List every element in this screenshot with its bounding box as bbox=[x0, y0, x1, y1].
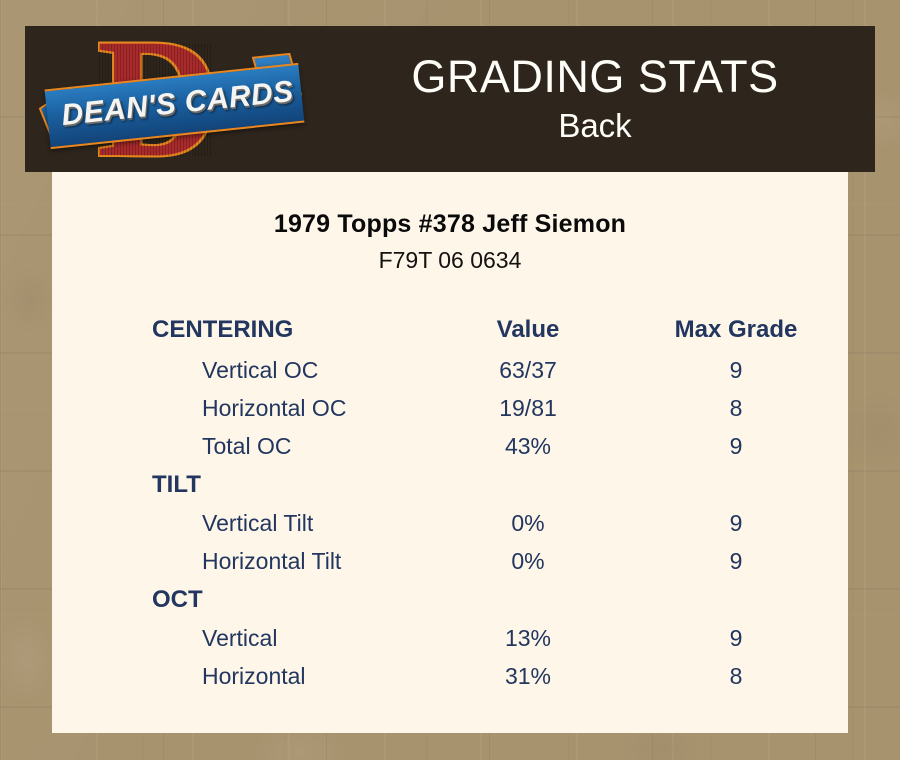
stat-value: 0% bbox=[432, 504, 624, 542]
stat-value: 13% bbox=[432, 619, 624, 657]
stats-section-header: TILT bbox=[52, 465, 848, 504]
table-row: Vertical Tilt0%9 bbox=[52, 504, 848, 542]
section-name: OCT bbox=[52, 580, 432, 619]
card-serial-number: F79T 06 0634 bbox=[52, 247, 848, 274]
stat-max-grade: 9 bbox=[624, 619, 848, 657]
column-header-max-grade: Max Grade bbox=[624, 316, 848, 351]
stats-table-body: Vertical OC63/379Horizontal OC19/818Tota… bbox=[52, 351, 848, 695]
stat-value: 43% bbox=[432, 427, 624, 465]
stat-max-grade: 9 bbox=[624, 427, 848, 465]
stat-value: 19/81 bbox=[432, 389, 624, 427]
stat-max-grade: 9 bbox=[624, 504, 848, 542]
page-title: GRADING STATS bbox=[411, 51, 778, 103]
page-subtitle: Back bbox=[558, 105, 631, 147]
stat-label: Horizontal bbox=[52, 657, 432, 695]
stat-value: 0% bbox=[432, 542, 624, 580]
stats-section-header: OCT bbox=[52, 580, 848, 619]
stats-table-head: CENTERING Value Max Grade bbox=[52, 316, 848, 351]
stat-label: Vertical Tilt bbox=[52, 504, 432, 542]
stat-label: Total OC bbox=[52, 427, 432, 465]
content-panel: 1979 Topps #378 Jeff Siemon F79T 06 0634… bbox=[52, 172, 848, 733]
stat-label: Vertical OC bbox=[52, 351, 432, 389]
stat-label: Horizontal OC bbox=[52, 389, 432, 427]
table-row: Horizontal31%8 bbox=[52, 657, 848, 695]
card-title: 1979 Topps #378 Jeff Siemon bbox=[52, 210, 848, 239]
header-title-group: GRADING STATS Back bbox=[315, 26, 875, 172]
stat-label: Horizontal Tilt bbox=[52, 542, 432, 580]
stat-max-grade: 9 bbox=[624, 542, 848, 580]
table-row: Vertical13%9 bbox=[52, 619, 848, 657]
stat-max-grade: 8 bbox=[624, 389, 848, 427]
table-row: Total OC43%9 bbox=[52, 427, 848, 465]
header-band: D DEAN'S CARDS GRADING STATS Back bbox=[25, 26, 875, 172]
stat-max-grade: 9 bbox=[624, 351, 848, 389]
section-name: TILT bbox=[52, 465, 432, 504]
column-header-value: Value bbox=[432, 316, 624, 351]
stat-value: 31% bbox=[432, 657, 624, 695]
table-row: Horizontal OC19/818 bbox=[52, 389, 848, 427]
stat-max-grade: 8 bbox=[624, 657, 848, 695]
stat-value: 63/37 bbox=[432, 351, 624, 389]
grading-stats-table: CENTERING Value Max Grade Vertical OC63/… bbox=[52, 316, 848, 695]
table-row: Horizontal Tilt0%9 bbox=[52, 542, 848, 580]
table-header-row: CENTERING Value Max Grade bbox=[52, 316, 848, 351]
deans-cards-logo[interactable]: D DEAN'S CARDS bbox=[47, 30, 302, 170]
stat-label: Vertical bbox=[52, 619, 432, 657]
column-header-section: CENTERING bbox=[52, 316, 432, 351]
table-row: Vertical OC63/379 bbox=[52, 351, 848, 389]
